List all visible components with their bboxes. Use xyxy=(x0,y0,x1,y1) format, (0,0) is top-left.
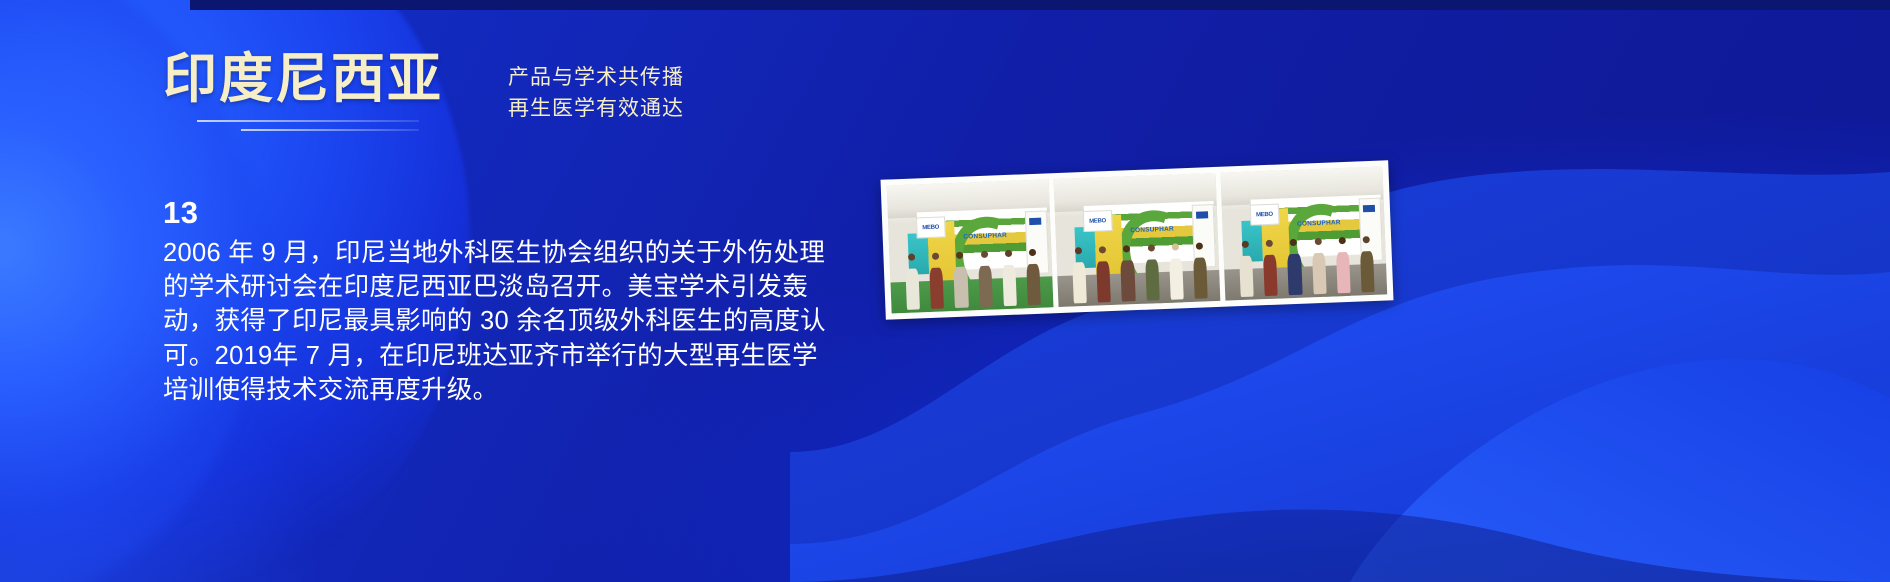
person xyxy=(1193,242,1208,299)
person xyxy=(1169,243,1184,300)
mebo-logo-text: MEBO xyxy=(922,224,939,231)
paragraph-line: 培训使得技术交流再度升级。 xyxy=(163,373,863,407)
person xyxy=(1144,244,1159,301)
people-group xyxy=(899,249,1047,311)
headline-block: 印度尼西亚 xyxy=(163,52,443,138)
photo-collage: MEBO CONSUPHAR xyxy=(881,160,1394,319)
person xyxy=(929,253,944,310)
collage-photo-3: MEBO CONSUPHAR xyxy=(1220,167,1387,301)
booth-scene: MEBO CONSUPHAR xyxy=(1220,167,1387,301)
collage-photo-2: MEBO CONSUPHAR xyxy=(1054,173,1221,307)
person xyxy=(1238,241,1253,298)
person xyxy=(1360,236,1375,293)
person xyxy=(1096,246,1111,303)
slide-canvas: 印度尼西亚 产品与学术共传播 再生医学有效通达 13 2006 年 9 月，印尼… xyxy=(0,0,1890,582)
person xyxy=(905,254,920,311)
item-number: 13 xyxy=(163,196,863,230)
person xyxy=(1002,250,1017,307)
person xyxy=(953,252,968,309)
subtitle-line-2: 再生医学有效通达 xyxy=(508,93,684,124)
person xyxy=(1263,240,1278,297)
collage-frame: MEBO CONSUPHAR xyxy=(881,160,1394,319)
people-group xyxy=(1066,242,1214,304)
paragraph-line: 的学术研讨会在印度尼西亚巴淡岛召开。美宝学术引发轰 xyxy=(163,270,863,304)
paragraph-line: 动，获得了印尼最具影响的 30 余名顶级外科医生的高度认 xyxy=(163,304,863,338)
subtitle-line-1: 产品与学术共传播 xyxy=(508,62,684,93)
mebo-logo-sign: MEBO xyxy=(1082,210,1112,232)
content-block: 13 2006 年 9 月，印尼当地外科医生协会组织的关于外伤处理 的学术研讨会… xyxy=(163,196,863,407)
title-rule-2 xyxy=(241,129,419,131)
person xyxy=(1072,247,1087,304)
booth-scene: MEBO CONSUPHAR xyxy=(1054,173,1221,307)
subtitle-block: 产品与学术共传播 再生医学有效通达 xyxy=(508,62,684,124)
title-underline-rules xyxy=(197,120,443,131)
body-paragraph: 2006 年 9 月，印尼当地外科医生协会组织的关于外伤处理 的学术研讨会在印度… xyxy=(163,236,863,407)
title-rule-1 xyxy=(197,120,419,122)
mebo-logo-text: MEBO xyxy=(1089,218,1106,225)
person xyxy=(1287,239,1302,296)
mebo-logo-sign: MEBO xyxy=(916,217,946,239)
person xyxy=(1120,245,1135,302)
person xyxy=(1026,249,1041,306)
mebo-logo-sign: MEBO xyxy=(1249,204,1279,226)
top-dark-strip xyxy=(190,0,1890,10)
page-title: 印度尼西亚 xyxy=(163,52,443,106)
person xyxy=(1336,237,1351,294)
paragraph-line: 可。2019年 7 月，在印尼班达亚齐市举行的大型再生医学 xyxy=(163,339,863,373)
people-group xyxy=(1233,236,1381,298)
paragraph-line: 2006 年 9 月，印尼当地外科医生协会组织的关于外伤处理 xyxy=(163,236,863,270)
booth-scene: MEBO CONSUPHAR xyxy=(887,179,1054,313)
person xyxy=(978,251,993,308)
collage-photo-1: MEBO CONSUPHAR xyxy=(887,179,1054,313)
mebo-logo-text: MEBO xyxy=(1256,212,1273,219)
person xyxy=(1311,238,1326,295)
